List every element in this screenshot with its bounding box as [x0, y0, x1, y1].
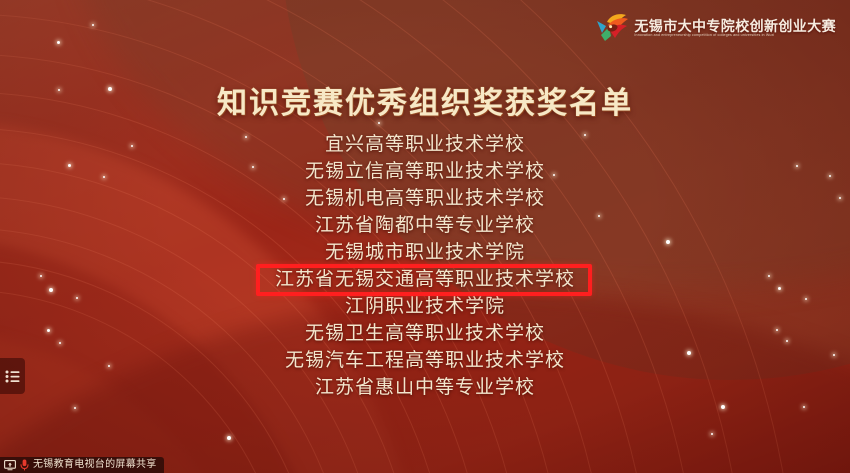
presentation-slide: 无锡市大中专院校创新创业大赛 Innovation and entreprene… — [0, 0, 850, 473]
star-particle — [378, 122, 380, 124]
logo-title-cn: 无锡市大中专院校创新创业大赛 — [634, 19, 836, 33]
star-particle — [711, 433, 713, 435]
list-item: 无锡城市职业技术学院 — [325, 239, 525, 266]
award-list: 宜兴高等职业技术学校 无锡立信高等职业技术学校 无锡机电高等职业技术学校 江苏省… — [0, 131, 850, 401]
microphone-icon — [20, 459, 29, 471]
participants-list-icon — [5, 370, 20, 383]
star-particle — [57, 41, 60, 44]
logo-title-en: Innovation and entrepreneurship competit… — [634, 34, 836, 38]
logo-text-block: 无锡市大中专院校创新创业大赛 Innovation and entreprene… — [634, 19, 836, 38]
star-particle — [74, 407, 76, 409]
competition-flame-logo-icon — [595, 12, 629, 44]
list-item: 江苏省陶都中等专业学校 — [315, 212, 535, 239]
star-particle — [92, 24, 94, 26]
screen-share-icon — [4, 460, 16, 471]
list-item-highlighted: 江苏省无锡交通高等职业技术学校 — [275, 266, 575, 293]
screen-share-label: 无锡教育电视台的屏幕共享 — [33, 460, 157, 470]
list-item: 江苏省惠山中等专业学校 — [315, 374, 535, 401]
list-item: 无锡卫生高等职业技术学校 — [305, 320, 545, 347]
star-particle — [227, 436, 231, 440]
list-item: 无锡立信高等职业技术学校 — [305, 158, 545, 185]
list-item: 无锡汽车工程高等职业技术学校 — [285, 347, 565, 374]
slide-title: 知识竞赛优秀组织奖获奖名单 — [0, 78, 850, 122]
list-item: 宜兴高等职业技术学校 — [325, 131, 525, 158]
star-particle — [803, 406, 805, 408]
star-particle — [721, 405, 725, 409]
list-item: 江阴职业技术学院 — [345, 293, 505, 320]
participants-panel-toggle[interactable] — [0, 358, 25, 394]
screen-share-status-bar: 无锡教育电视台的屏幕共享 — [0, 457, 164, 473]
list-item: 无锡机电高等职业技术学校 — [305, 185, 545, 212]
competition-logo: 无锡市大中专院校创新创业大赛 Innovation and entreprene… — [595, 12, 836, 44]
